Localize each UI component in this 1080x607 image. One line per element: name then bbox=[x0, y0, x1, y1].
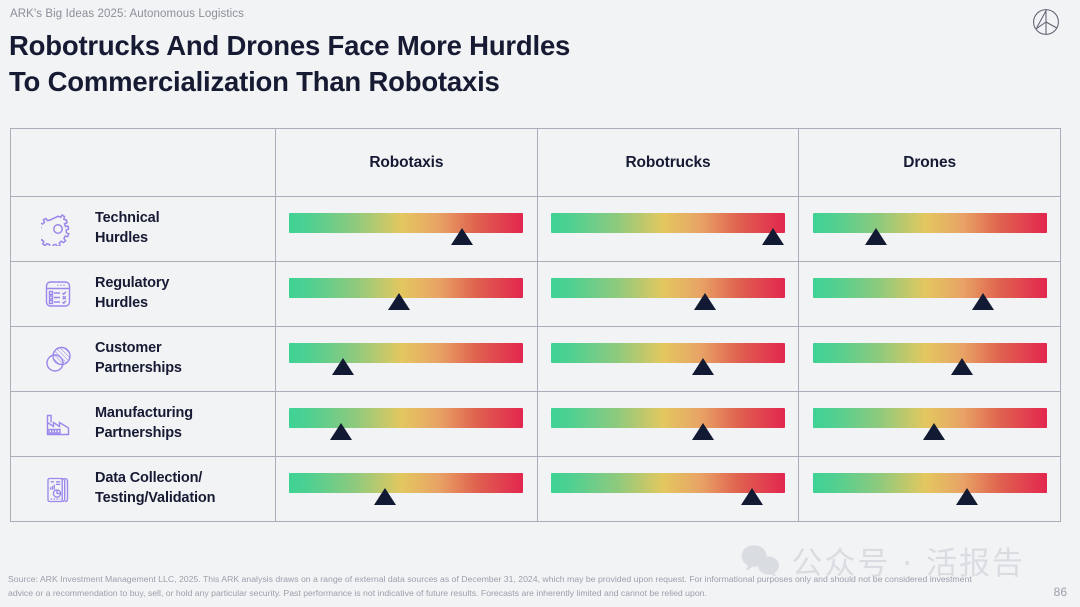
gradient-bar-wrap bbox=[813, 404, 1047, 444]
row-label-text: Customer Partnerships bbox=[95, 339, 182, 378]
gradient-bar bbox=[813, 343, 1047, 363]
value-marker bbox=[923, 423, 945, 440]
gradient-bar bbox=[551, 343, 785, 363]
cell-manufacturing-robotrucks[interactable] bbox=[538, 392, 800, 456]
row-label-data-collection: Data Collection/ Testing/Validation bbox=[11, 457, 276, 521]
column-header-label: Drones bbox=[903, 154, 956, 172]
gradient-bar bbox=[289, 343, 523, 363]
row-label-text: Data Collection/ Testing/Validation bbox=[95, 469, 215, 508]
gradient-bar bbox=[551, 408, 785, 428]
data-report-icon bbox=[35, 473, 81, 506]
gradient-bar bbox=[813, 473, 1047, 493]
venn-diagram-icon bbox=[35, 343, 81, 376]
gradient-bar-wrap bbox=[551, 469, 785, 509]
row-label-technical-hurdles: Technical Hurdles bbox=[11, 197, 276, 261]
header-cell-drones: Drones bbox=[799, 129, 1060, 196]
gradient-bar bbox=[551, 278, 785, 298]
cell-customer-robotrucks[interactable] bbox=[538, 327, 800, 391]
value-marker bbox=[972, 293, 994, 310]
column-header-label: Robotrucks bbox=[625, 154, 710, 172]
page-title-line-2: To Commercialization Than Robotaxis bbox=[9, 64, 570, 100]
gradient-bar bbox=[813, 278, 1047, 298]
source-note: Source: ARK Investment Management LLC, 2… bbox=[8, 572, 998, 600]
gradient-bar bbox=[289, 473, 523, 493]
table-header-row: Robotaxis Robotrucks Drones bbox=[11, 129, 1060, 197]
table-row: Technical Hurdles bbox=[11, 197, 1060, 262]
cell-customer-robotaxis[interactable] bbox=[276, 327, 538, 391]
gradient-bar bbox=[551, 213, 785, 233]
gradient-bar-wrap bbox=[289, 339, 523, 379]
gradient-bar-wrap bbox=[289, 404, 523, 444]
row-label-line-1: Regulatory bbox=[95, 274, 169, 294]
value-marker bbox=[692, 358, 714, 375]
page-number: 86 bbox=[1054, 585, 1067, 599]
value-marker bbox=[330, 423, 352, 440]
cell-regulatory-robotrucks[interactable] bbox=[538, 262, 800, 326]
value-marker bbox=[374, 488, 396, 505]
row-label-text: Technical Hurdles bbox=[95, 209, 159, 248]
gradient-bar-wrap bbox=[551, 404, 785, 444]
value-marker bbox=[951, 358, 973, 375]
row-label-line-2: Partnerships bbox=[95, 424, 193, 444]
cell-regulatory-drones[interactable] bbox=[799, 262, 1060, 326]
row-label-line-2: Testing/Validation bbox=[95, 489, 215, 509]
header-cell-robotrucks: Robotrucks bbox=[538, 129, 800, 196]
gradient-bar-wrap bbox=[551, 274, 785, 314]
cell-data-robotaxis[interactable] bbox=[276, 457, 538, 521]
value-marker bbox=[956, 488, 978, 505]
cell-manufacturing-robotaxis[interactable] bbox=[276, 392, 538, 456]
column-header-label: Robotaxis bbox=[369, 154, 443, 172]
gradient-bar-wrap bbox=[289, 274, 523, 314]
row-label-regulatory-hurdles: Regulatory Hurdles bbox=[11, 262, 276, 326]
row-label-line-1: Manufacturing bbox=[95, 404, 193, 424]
row-label-line-1: Customer bbox=[95, 339, 182, 359]
eyebrow-text: ARK's Big Ideas 2025: Autonomous Logisti… bbox=[10, 8, 244, 20]
cell-data-robotrucks[interactable] bbox=[538, 457, 800, 521]
gradient-bar-wrap bbox=[289, 209, 523, 249]
gradient-bar bbox=[813, 213, 1047, 233]
value-marker bbox=[694, 293, 716, 310]
checklist-icon bbox=[35, 278, 81, 310]
table-row: Customer Partnerships bbox=[11, 327, 1060, 392]
row-label-line-1: Technical bbox=[95, 209, 159, 229]
gradient-bar bbox=[289, 213, 523, 233]
cell-manufacturing-drones[interactable] bbox=[799, 392, 1060, 456]
gradient-bar-wrap bbox=[813, 209, 1047, 249]
gradient-bar-wrap bbox=[551, 339, 785, 379]
row-label-text: Manufacturing Partnerships bbox=[95, 404, 193, 443]
table-row: Regulatory Hurdles bbox=[11, 262, 1060, 327]
row-label-line-2: Partnerships bbox=[95, 359, 182, 379]
cell-technical-drones[interactable] bbox=[799, 197, 1060, 261]
value-marker bbox=[692, 423, 714, 440]
page-title-line-1: Robotrucks And Drones Face More Hurdles bbox=[9, 28, 570, 64]
value-marker bbox=[388, 293, 410, 310]
header-cell-robotaxis: Robotaxis bbox=[276, 129, 538, 196]
gear-icon bbox=[35, 212, 81, 246]
table-row: Manufacturing Partnerships bbox=[11, 392, 1060, 457]
gradient-bar-wrap bbox=[813, 339, 1047, 379]
header-cell-blank bbox=[11, 129, 276, 196]
gradient-bar-wrap bbox=[813, 274, 1047, 314]
row-label-text: Regulatory Hurdles bbox=[95, 274, 169, 313]
row-label-line-2: Hurdles bbox=[95, 229, 159, 249]
row-label-line-1: Data Collection/ bbox=[95, 469, 215, 489]
hurdles-table: Robotaxis Robotrucks Drones Technical Hu… bbox=[10, 128, 1061, 522]
value-marker bbox=[451, 228, 473, 245]
cell-technical-robotrucks[interactable] bbox=[538, 197, 800, 261]
factory-icon bbox=[35, 408, 81, 441]
value-marker bbox=[332, 358, 354, 375]
row-label-customer-partnerships: Customer Partnerships bbox=[11, 327, 276, 391]
value-marker bbox=[865, 228, 887, 245]
gradient-bar-wrap bbox=[551, 209, 785, 249]
row-label-line-2: Hurdles bbox=[95, 294, 169, 314]
gradient-bar-wrap bbox=[813, 469, 1047, 509]
page-title: Robotrucks And Drones Face More Hurdles … bbox=[9, 28, 570, 101]
cell-data-drones[interactable] bbox=[799, 457, 1060, 521]
gradient-bar-wrap bbox=[289, 469, 523, 509]
value-marker bbox=[741, 488, 763, 505]
cell-technical-robotaxis[interactable] bbox=[276, 197, 538, 261]
row-label-manufacturing-partnerships: Manufacturing Partnerships bbox=[11, 392, 276, 456]
table-row: Data Collection/ Testing/Validation bbox=[11, 457, 1060, 521]
gradient-bar bbox=[289, 408, 523, 428]
value-marker bbox=[762, 228, 784, 245]
ark-logo-icon bbox=[1030, 6, 1062, 38]
cell-regulatory-robotaxis[interactable] bbox=[276, 262, 538, 326]
cell-customer-drones[interactable] bbox=[799, 327, 1060, 391]
